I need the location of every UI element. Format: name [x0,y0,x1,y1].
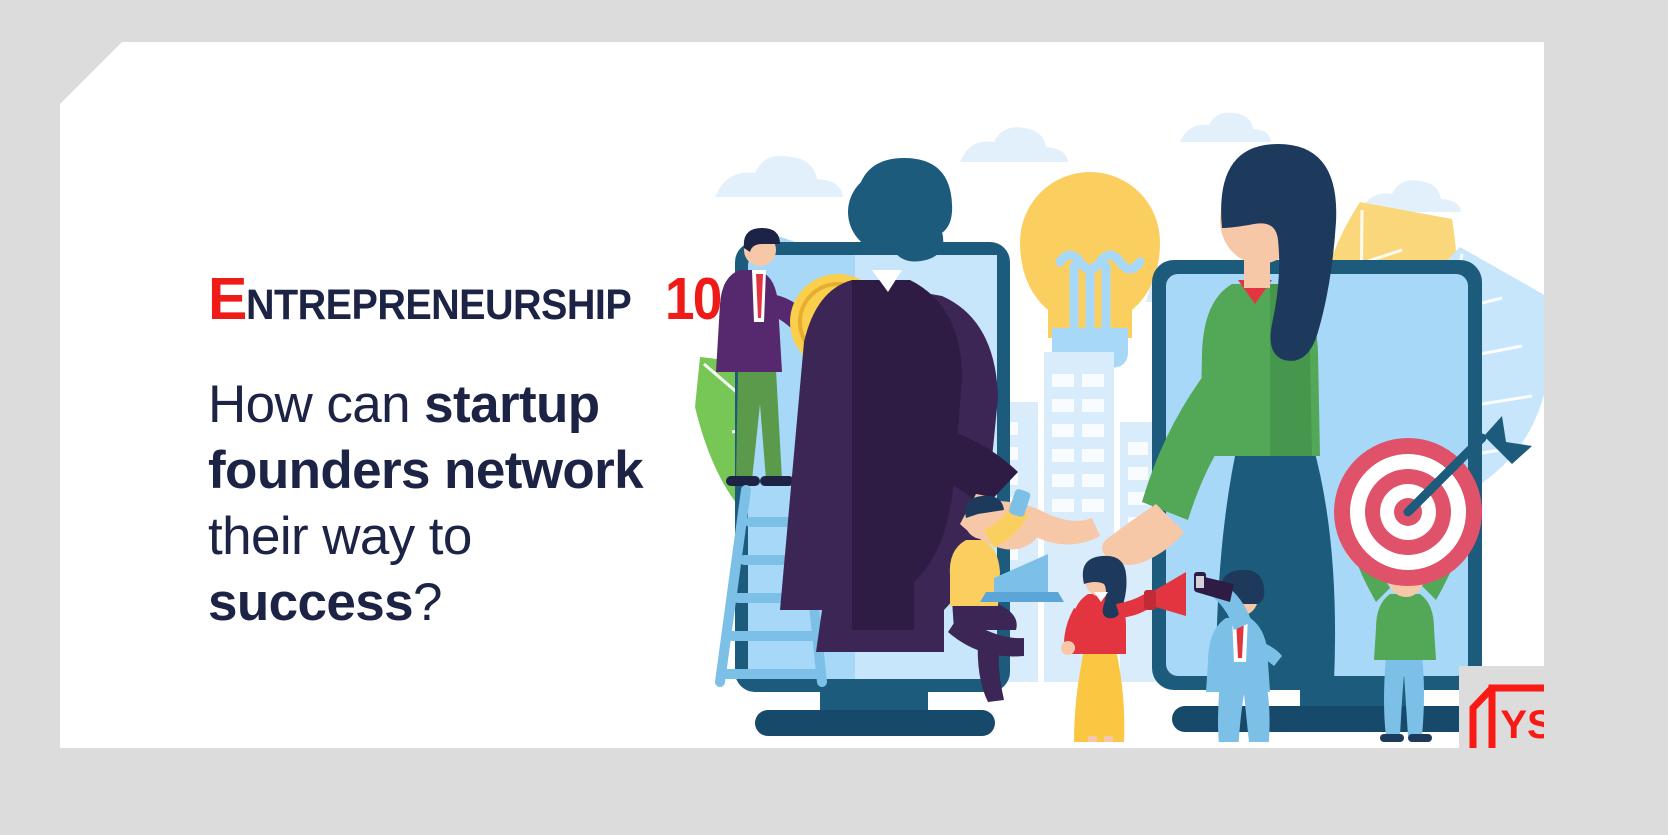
content-card: ENTREPRENEURSHIP101 How can startup foun… [60,42,1544,748]
headline-seg-1: How can [208,375,424,434]
lightbulb-icon [1020,172,1160,368]
kicker-cap-letter: E [208,266,246,332]
page-title: How can startup founders network their w… [208,372,678,636]
headline-seg-3: founders network [208,441,643,500]
yourstory-logo[interactable]: YS [1459,666,1579,776]
headline-seg-2: startup [424,375,599,434]
headline-seg-5: success [208,573,413,632]
headline-seg-6: ? [413,573,442,632]
headline-seg-4: their way to [208,507,472,566]
business-networking-illustration: $ [660,102,1560,742]
logo-text: YS [1500,703,1553,747]
page-root: ENTREPRENEURSHIP101 How can startup foun… [0,0,1668,835]
kicker-word: NTREPRENEURSHIP [246,284,631,327]
